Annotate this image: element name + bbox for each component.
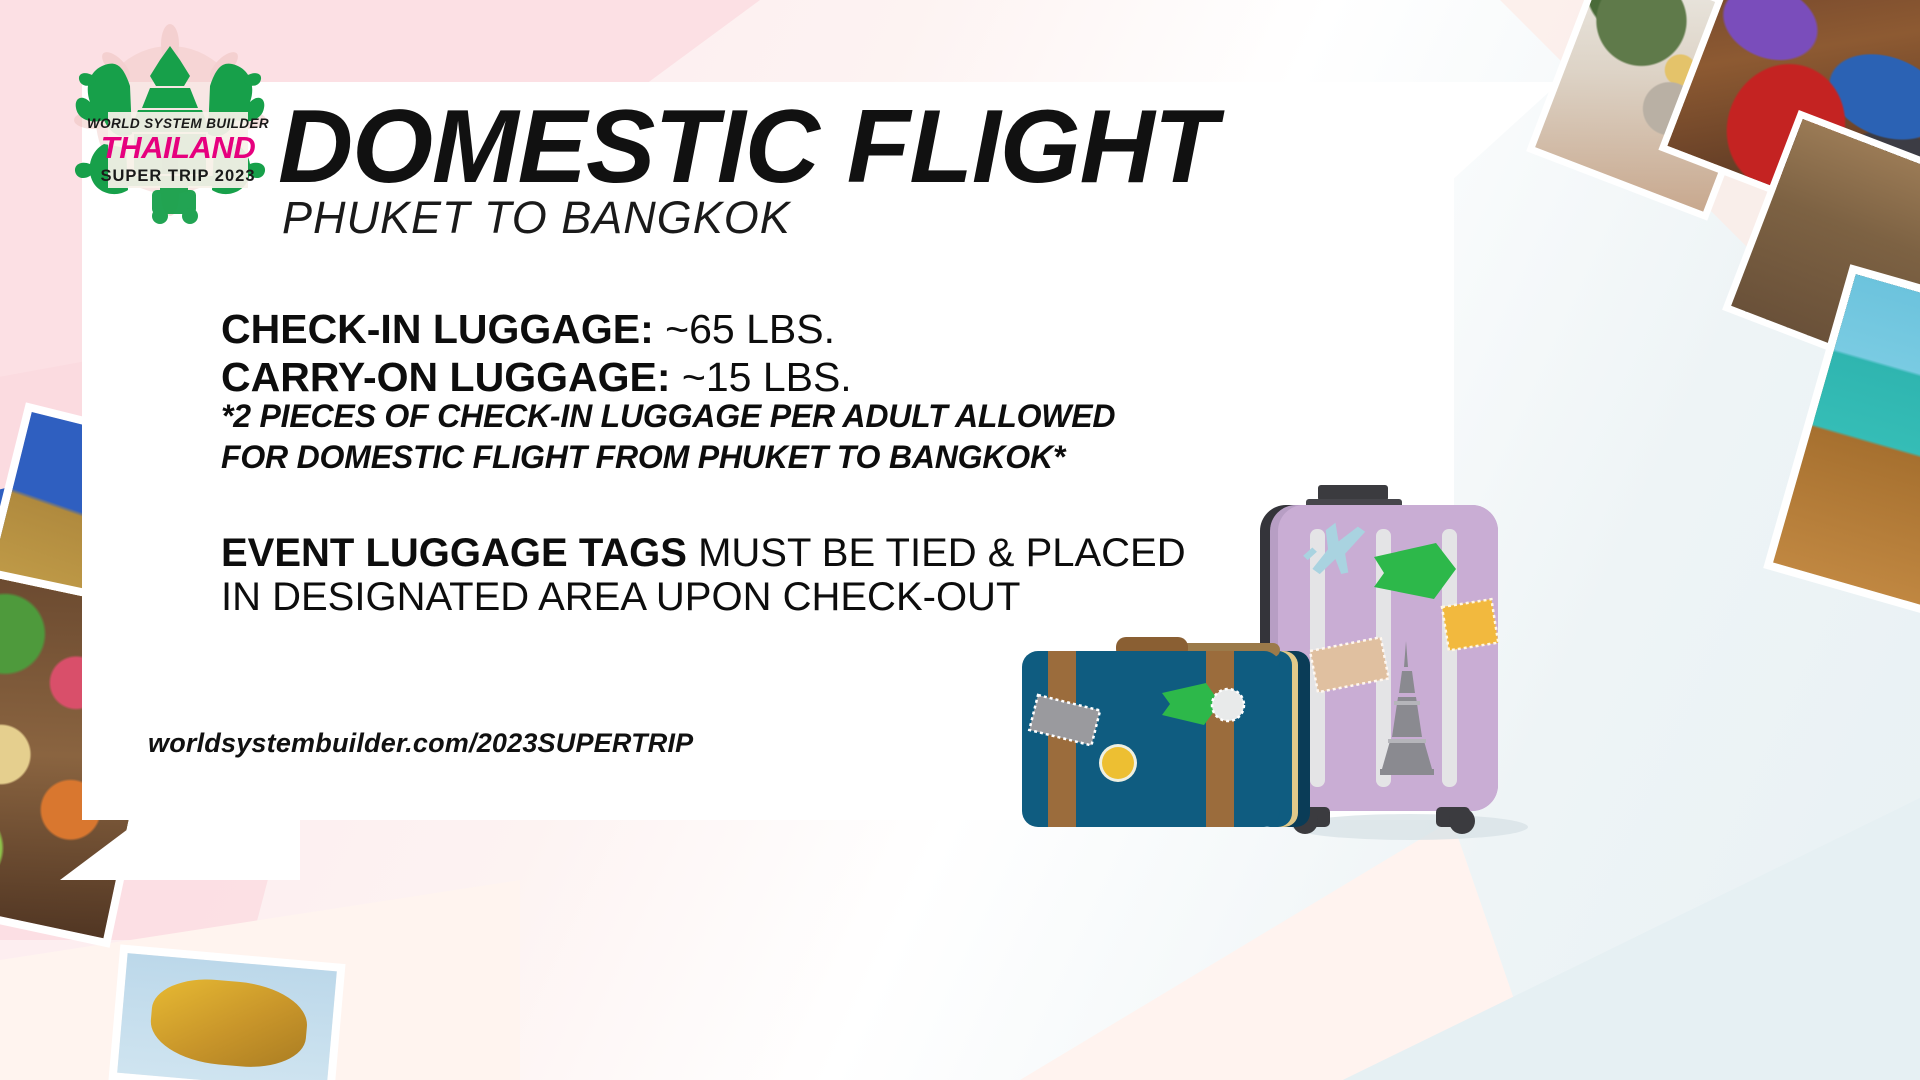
slide-content: DOMESTIC FLIGHT PHUKET TO BANGKOK CHECK-… [0,0,1920,1080]
carryon-luggage-label: CARRY-ON LUGGAGE: [221,354,670,400]
checkin-luggage-label: CHECK-IN LUGGAGE: [221,306,654,352]
svg-text:THAILAND: THAILAND [101,130,256,165]
luggage-note: *2 PIECES OF CHECK-IN LUGGAGE PER ADULT … [221,396,1115,477]
page-subtitle: PHUKET TO BANGKOK [282,192,791,244]
svg-text:SUPER TRIP 2023: SUPER TRIP 2023 [100,167,255,185]
footer-url: worldsystembuilder.com/2023SUPERTRIP [148,728,693,759]
luggage-note-line-1: *2 PIECES OF CHECK-IN LUGGAGE PER ADULT … [221,396,1115,437]
carryon-luggage-value: ~15 LBS. [670,354,851,400]
luggage-note-line-2: FOR DOMESTIC FLIGHT FROM PHUKET TO BANGK… [221,437,1115,478]
luggage-allowance-block: CHECK-IN LUGGAGE: ~65 LBS. CARRY-ON LUGG… [221,305,852,402]
checkin-luggage-line: CHECK-IN LUGGAGE: ~65 LBS. [221,305,852,353]
page-title: DOMESTIC FLIGHT [278,95,1216,199]
svg-text:WORLD SYSTEM BUILDER: WORLD SYSTEM BUILDER [87,116,269,131]
event-tags-bold-prefix: EVENT LUGGAGE TAGS [221,531,687,575]
checkin-luggage-value: ~65 LBS. [654,306,835,352]
carryon-luggage-line: CARRY-ON LUGGAGE: ~15 LBS. [221,353,852,401]
event-logo: WORLD SYSTEM BUILDER THAILAND SUPER TRIP… [64,24,276,236]
event-tags-notice: EVENT LUGGAGE TAGS MUST BE TIED & PLACED… [221,532,1221,619]
